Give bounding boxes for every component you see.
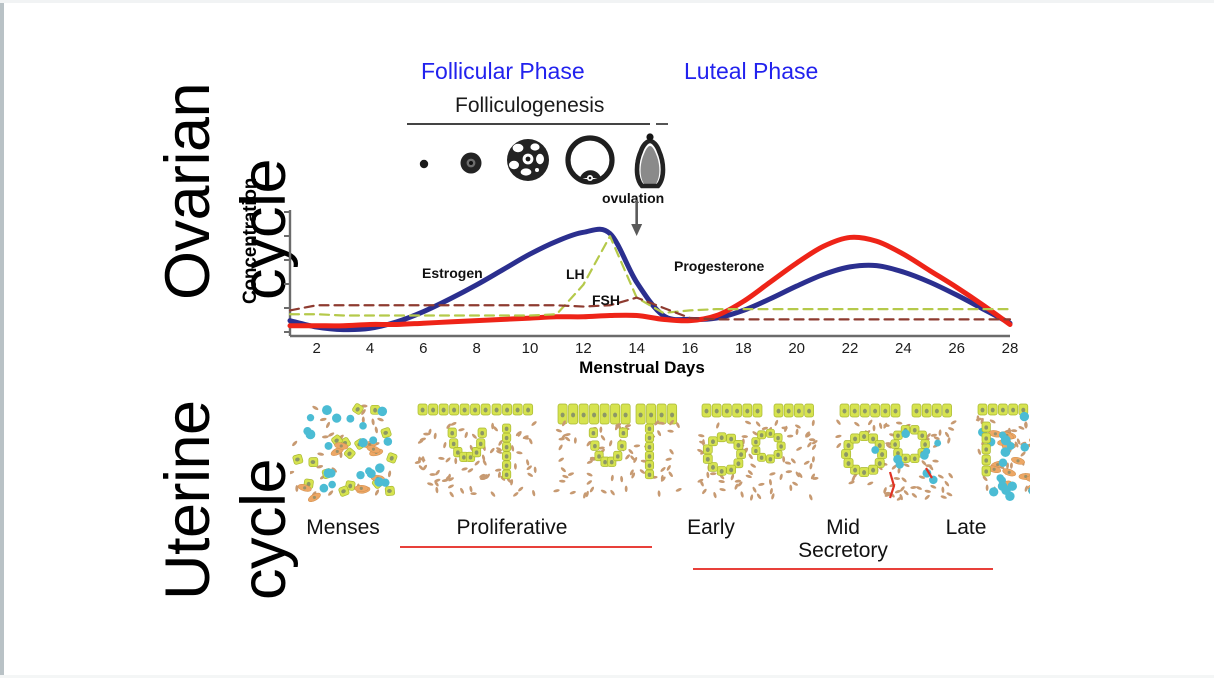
slide-left-border — [0, 0, 4, 678]
endo-caption-late: Late — [946, 516, 987, 540]
x-tick-18: 18 — [735, 340, 752, 357]
primary-follicle-icon — [461, 153, 482, 174]
folliculogenesis-rule — [407, 123, 650, 125]
endometrium-panel-mid — [835, 404, 957, 502]
fsh-curve-label: FSH — [592, 292, 620, 308]
x-tick-22: 22 — [842, 340, 859, 357]
endometrium-panel-proliferative2 — [553, 404, 682, 499]
ovulating-follicle-icon — [637, 133, 663, 186]
endometrium-panel-menses — [290, 403, 398, 504]
endometrium-panel-proliferative — [414, 404, 537, 498]
endo-caption-early: Early — [687, 516, 735, 540]
x-axis-title: Menstrual Days — [262, 358, 1022, 378]
antral-follicle-icon — [568, 138, 612, 182]
x-tick-12: 12 — [575, 340, 592, 357]
follicle-stages-illustration — [404, 132, 684, 194]
endometrium-illustration-row — [290, 398, 1030, 508]
uterine-cycle-label-line1: Uterine — [152, 400, 224, 600]
endo-caption-secretory: Secretory — [798, 539, 888, 563]
primordial-follicle-icon — [420, 160, 428, 168]
x-tick-28: 28 — [1002, 340, 1019, 357]
y-axis-title: Concentration — [240, 178, 262, 304]
x-tick-26: 26 — [948, 340, 965, 357]
progesterone-curve-label: Progesterone — [674, 258, 764, 274]
x-tick-20: 20 — [788, 340, 805, 357]
chart-series — [290, 229, 1010, 329]
slide-canvas: Ovarian cycle Uterine cycle Follicular P… — [0, 0, 1214, 678]
lh-curve-label: LH — [566, 266, 585, 282]
chart-plot-area — [262, 200, 1022, 350]
progesterone-curve — [290, 237, 1010, 326]
estrogen-curve-label: Estrogen — [422, 265, 483, 281]
slide-top-border — [0, 0, 1214, 3]
ovulation-arrow-icon — [631, 200, 642, 236]
x-tick-10: 10 — [522, 340, 539, 357]
x-tick-24: 24 — [895, 340, 912, 357]
x-tick-16: 16 — [682, 340, 699, 357]
hormone-concentration-chart: Concentration 246810121416182022242628 M… — [262, 200, 1022, 385]
secretory-rule — [693, 568, 993, 570]
ovarian-cycle-label-line1: Ovarian — [152, 83, 224, 300]
proliferative-rule — [400, 546, 652, 548]
x-tick-4: 4 — [366, 340, 374, 357]
endo-caption-menses: Menses — [306, 516, 380, 540]
folliculogenesis-label: Folliculogenesis — [455, 94, 604, 118]
x-tick-14: 14 — [628, 340, 645, 357]
luteal-phase-title: Luteal Phase — [684, 58, 818, 85]
x-tick-2: 2 — [312, 340, 320, 357]
endo-caption-proliferative: Proliferative — [457, 516, 568, 540]
endometrium-panel-early — [697, 404, 819, 501]
endometrium-panel-late — [975, 404, 1030, 501]
endo-caption-mid: Mid — [826, 516, 860, 540]
follicular-phase-title: Follicular Phase — [421, 58, 585, 85]
folliculogenesis-rule-tick — [656, 123, 668, 125]
secondary-follicle-icon — [507, 139, 549, 181]
x-tick-6: 6 — [419, 340, 427, 357]
x-tick-8: 8 — [472, 340, 480, 357]
